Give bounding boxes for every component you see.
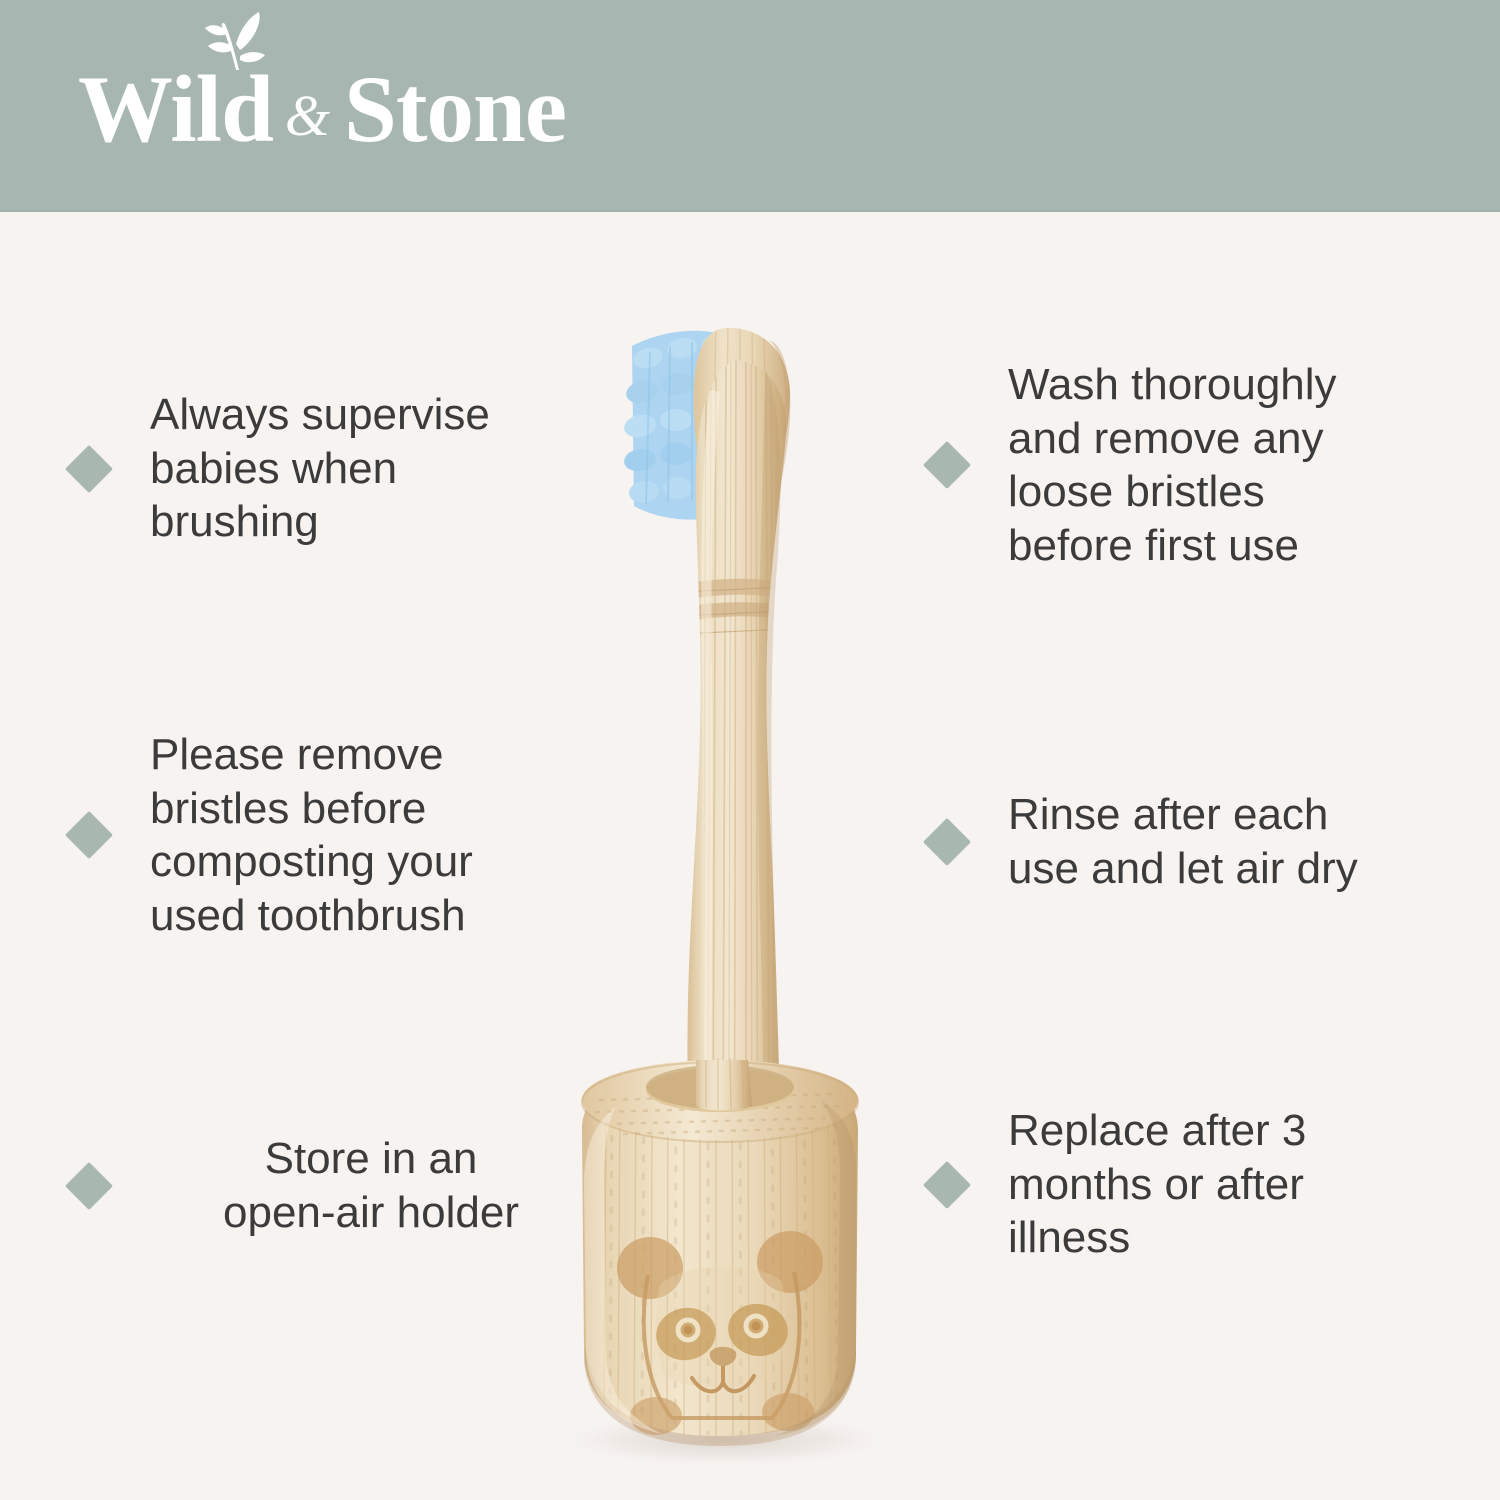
diamond-bullet-icon [923, 441, 971, 489]
tip-rinse-air-dry: Rinse after each use and let air dry [930, 788, 1450, 895]
product-photo-bamboo-toothbrush [520, 300, 920, 1480]
diamond-bullet-icon [65, 444, 113, 492]
tip-supervise-babies: Always supervise babies when brushing [72, 388, 592, 549]
tip-text: Always supervise babies when brushing [150, 388, 490, 549]
tip-wash-before-first-use: Wash thoroughly and remove any loose bri… [930, 358, 1450, 573]
tip-open-air-holder: Store in an open-air holder [72, 1132, 592, 1239]
tip-remove-bristles-composting: Please remove bristles before composting… [72, 728, 592, 943]
brand-ampersand: & [285, 82, 330, 149]
brand-word-stone: Stone [344, 62, 566, 157]
header-band: Wild & Stone [0, 0, 1500, 212]
diamond-bullet-icon [923, 1160, 971, 1208]
tip-text: Replace after 3 months or after illness [1008, 1104, 1306, 1265]
diamond-bullet-icon [65, 811, 113, 859]
leaf-sprig-icon [196, 10, 270, 72]
tip-text: Please remove bristles before composting… [150, 728, 473, 943]
bamboo-toothbrush-holder [582, 1058, 858, 1446]
diamond-bullet-icon [65, 1162, 113, 1210]
diamond-bullet-icon [923, 818, 971, 866]
tip-text: Rinse after each use and let air dry [1008, 788, 1358, 895]
tip-replace-3-months: Replace after 3 months or after illness [930, 1104, 1450, 1265]
brand-word-wild: Wild [78, 62, 273, 157]
tip-text: Wash thoroughly and remove any loose bri… [1008, 358, 1337, 573]
brand-logo: Wild & Stone [78, 62, 566, 157]
